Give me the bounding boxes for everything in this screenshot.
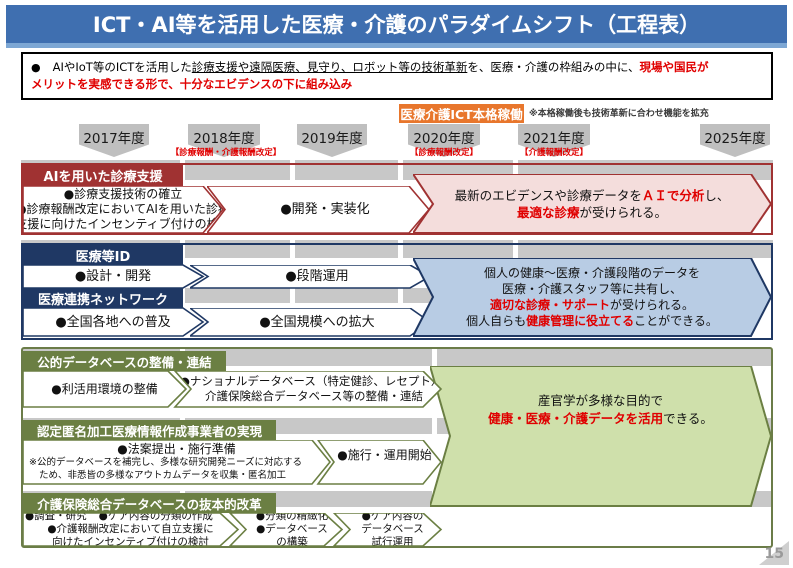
timeline-year-2017-label: 2017年度 [79,124,149,147]
timeline-year-2021-label: 2021年度 [518,124,590,147]
timeline-year-2019: 2019年度 [297,124,367,157]
status-badge-ict-operation: 医療介護ICT本格稼働 [399,104,524,123]
blue-outcome-outline [413,258,773,338]
timeline-year-2025-label: 2025年度 [700,124,770,147]
timeline-year-2019-label: 2019年度 [297,124,367,147]
timeline-year-2020-label: 2020年度 [408,124,480,147]
lead-line-2: メリットを実感できる形で、十分なエビデンスの下に組み込み [31,76,763,92]
timeline-year-2018-note: 【診療報酬・介護報酬改定】 [164,146,288,158]
lead-text-e: メリットを実感できる形で、十分なエビデンスの下に組み込み [31,77,352,91]
page-number: 15 [765,546,784,562]
section-header-ai-diagnosis: AIを用いた診療支援 [23,165,183,186]
page-title: ICT・AI等を活用した医療・介護のパラダイムシフト（工程表） [93,9,700,39]
lead-text-c: を、医療・介護の枠組みの中に、 [467,60,639,74]
red-cell-phase2-outline [207,186,431,234]
timeline-year-2021-note: 【介護報酬改定】 [514,146,594,158]
lead-statement-box: ● AIやIoT等のICTを活用した診療支援や遠隔医療、見守り、ロボット等の技術… [21,52,773,100]
timeline-year-2018-label: 2018年度 [188,124,260,147]
lead-text-b: 診療支援や遠隔医療、見守り、ロボット等の技術革新 [192,60,468,74]
lead-text-d: 現場や国民が [639,60,708,74]
blue-row2-cell2-outline [190,308,432,338]
slide-root: ICT・AI等を活用した医療・介護のパラダイムシフト（工程表） ● AIやIoT… [0,0,793,568]
green-g1-outline [23,371,443,409]
red-cell-phase1-outline [23,186,225,234]
green-g3-outline [23,513,443,548]
green-g2-outline [23,440,443,486]
lead-bullet-icon: ● [31,61,41,74]
timeline-year-2020-note: 【診療報酬改定】 [404,146,484,158]
timeline-year-2025: 2025年度 [700,124,770,157]
badge-note: ※本格稼働後も技術革新に合わせ機能を拡充 [529,106,709,119]
red-outcome-outline [413,174,773,235]
timeline-year-2017: 2017年度 [79,124,149,157]
lead-text-a: AIやIoT等のICTを活用した [53,60,192,74]
title-underline [6,43,787,48]
lead-line-1: ● AIやIoT等のICTを活用した診療支援や遠隔医療、見守り、ロボット等の技術… [31,59,763,76]
section-header-anonymous-processing: 認定匿名加工医療情報作成事業者の実現 [23,420,276,440]
green-outcome-outline [430,366,773,508]
section-header-medical-id: 医療等ID [23,245,183,265]
slide-title-bar: ICT・AI等を活用した医療・介護のパラダイムシフト（工程表） [6,5,787,43]
section-header-public-db: 公的データベースの整備・連結 [23,351,226,371]
section-header-ltci-db-reform: 介護保険総合データベースの抜本的改革 [23,493,276,513]
blue-row1-cell2-outline [190,265,432,290]
